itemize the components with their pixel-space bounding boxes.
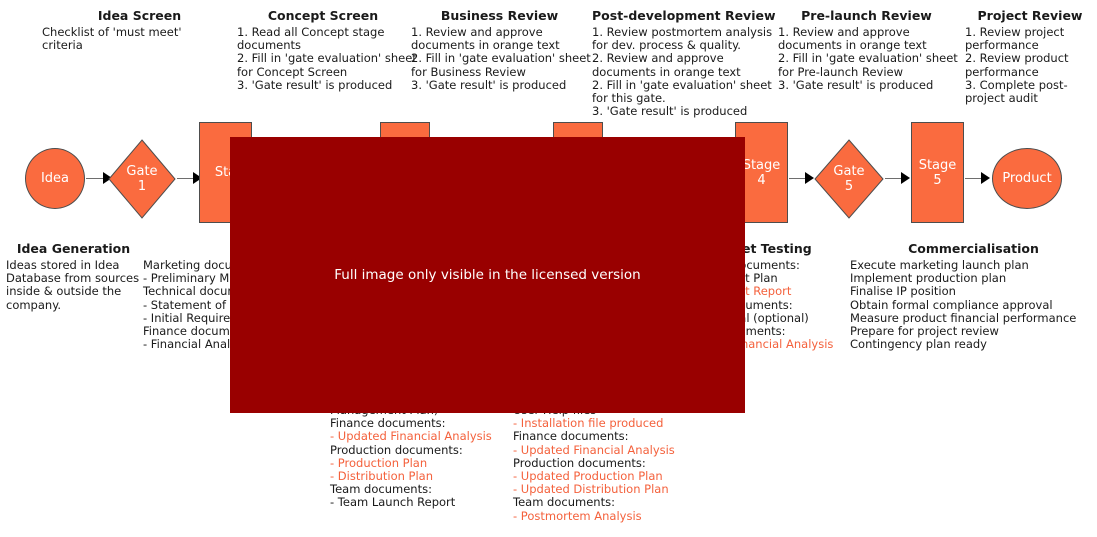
stage-description-line: Finalise IP position — [850, 285, 1097, 298]
gate-review-heading: Post-development Review — [592, 8, 774, 24]
gate-review-line: 2. Fill in 'gate evaluation' sheet — [778, 52, 955, 65]
gate-review-line: 3. 'Gate result' is produced — [411, 79, 588, 92]
stage-description-line: inside & outside the — [6, 285, 141, 298]
flow-node-label-wrap: Stage 5 — [919, 158, 957, 188]
flow-node-label-wrap: Stage 4 — [743, 158, 781, 188]
flow-node-sublabel: 4 — [757, 173, 765, 188]
license-watermark-overlay: Full image only visible in the licensed … — [230, 137, 745, 413]
stage-description-heading: Idea Generation — [6, 241, 141, 257]
document-list-line: Team documents: — [513, 496, 713, 509]
document-list-line: - Team Launch Report — [330, 496, 520, 509]
document-list-line: - Postmortem Analysis — [513, 510, 713, 523]
stage-description-heading: Commercialisation — [850, 241, 1097, 257]
arrowhead-icon — [981, 172, 990, 184]
diamond-shape-icon — [108, 139, 176, 219]
diagram-canvas: Idea Screen Checklist of 'must meet' cri… — [0, 0, 1097, 537]
gate-review-line: 3. 'Gate result' is produced — [237, 79, 409, 92]
gate-review-post-development-review: Post-development Review 1. Review postmo… — [592, 8, 774, 118]
gate-review-line: performance — [965, 66, 1095, 79]
gate-review-line: 2. Fill in 'gate evaluation' sheet — [237, 52, 409, 65]
flow-node-label: Product — [1002, 171, 1051, 186]
arrowhead-icon — [901, 172, 910, 184]
flow-node-gate-5[interactable]: Gate 5 — [814, 139, 884, 219]
gate-review-line: project audit — [965, 92, 1095, 105]
flow-node-product[interactable]: Product — [992, 148, 1062, 209]
gate-review-heading: Business Review — [411, 8, 588, 24]
gate-review-business-review: Business Review 1. Review and approve do… — [411, 8, 588, 92]
gate-review-heading: Project Review — [965, 8, 1095, 24]
stage-description-line: company. — [6, 299, 141, 312]
flow-node-label: Stage — [919, 158, 957, 173]
document-list-line: Finance documents: — [513, 430, 713, 443]
stage-description-idea-generation: Idea Generation Ideas stored in Idea Dat… — [6, 241, 141, 312]
document-list-line: Production documents: — [330, 444, 520, 457]
gate-review-heading: Idea Screen — [42, 8, 237, 24]
flow-node-idea[interactable]: Idea — [25, 148, 85, 209]
gate-review-heading: Concept Screen — [237, 8, 409, 24]
arrowhead-icon — [805, 172, 814, 184]
gate-review-line: 3. 'Gate result' is produced — [778, 79, 955, 92]
stage-description-line: Obtain formal compliance approval — [850, 299, 1097, 312]
diamond-shape-icon — [814, 139, 884, 219]
document-list-testing: User Help files - Installation file prod… — [513, 404, 713, 523]
gate-review-pre-launch-review: Pre-launch Review 1. Review and approve … — [778, 8, 955, 92]
gate-review-line: documents in orange text — [592, 66, 774, 79]
flow-node-stage-5[interactable]: Stage 5 — [911, 122, 964, 223]
flow-node-sublabel: 5 — [933, 173, 941, 188]
flow-node-label: Idea — [41, 171, 69, 186]
gate-review-line: 2. Review product — [965, 52, 1095, 65]
stage-description-commercialisation: Commercialisation Execute marketing laun… — [850, 241, 1097, 351]
gate-review-idea-screen: Idea Screen Checklist of 'must meet' cri… — [42, 8, 237, 52]
gate-review-line: criteria — [42, 39, 237, 52]
gate-review-heading: Pre-launch Review — [778, 8, 955, 24]
gate-review-line: 2. Fill in 'gate evaluation' sheet — [411, 52, 588, 65]
gate-review-line: for Pre-launch Review — [778, 66, 955, 79]
document-list-line: - Updated Financial Analysis — [513, 444, 713, 457]
license-watermark-text: Full image only visible in the licensed … — [334, 267, 640, 283]
document-list-development: Management Plan) Finance documents: - Up… — [330, 404, 520, 510]
gate-review-line: 3. 'Gate result' is produced — [592, 105, 774, 118]
gate-review-line: for Concept Screen — [237, 66, 409, 79]
stage-description-line: Contingency plan ready — [850, 338, 1097, 351]
gate-review-line: for Business Review — [411, 66, 588, 79]
gate-review-concept-screen: Concept Screen 1. Read all Concept stage… — [237, 8, 409, 92]
gate-review-project-review: Project Review 1. Review project perform… — [965, 8, 1095, 105]
document-list-line: - Updated Financial Analysis — [330, 430, 520, 443]
flow-node-label: Stage — [743, 158, 781, 173]
flow-node-gate-1[interactable]: Gate 1 — [108, 139, 176, 219]
gate-review-line: 2. Review and approve — [592, 52, 774, 65]
